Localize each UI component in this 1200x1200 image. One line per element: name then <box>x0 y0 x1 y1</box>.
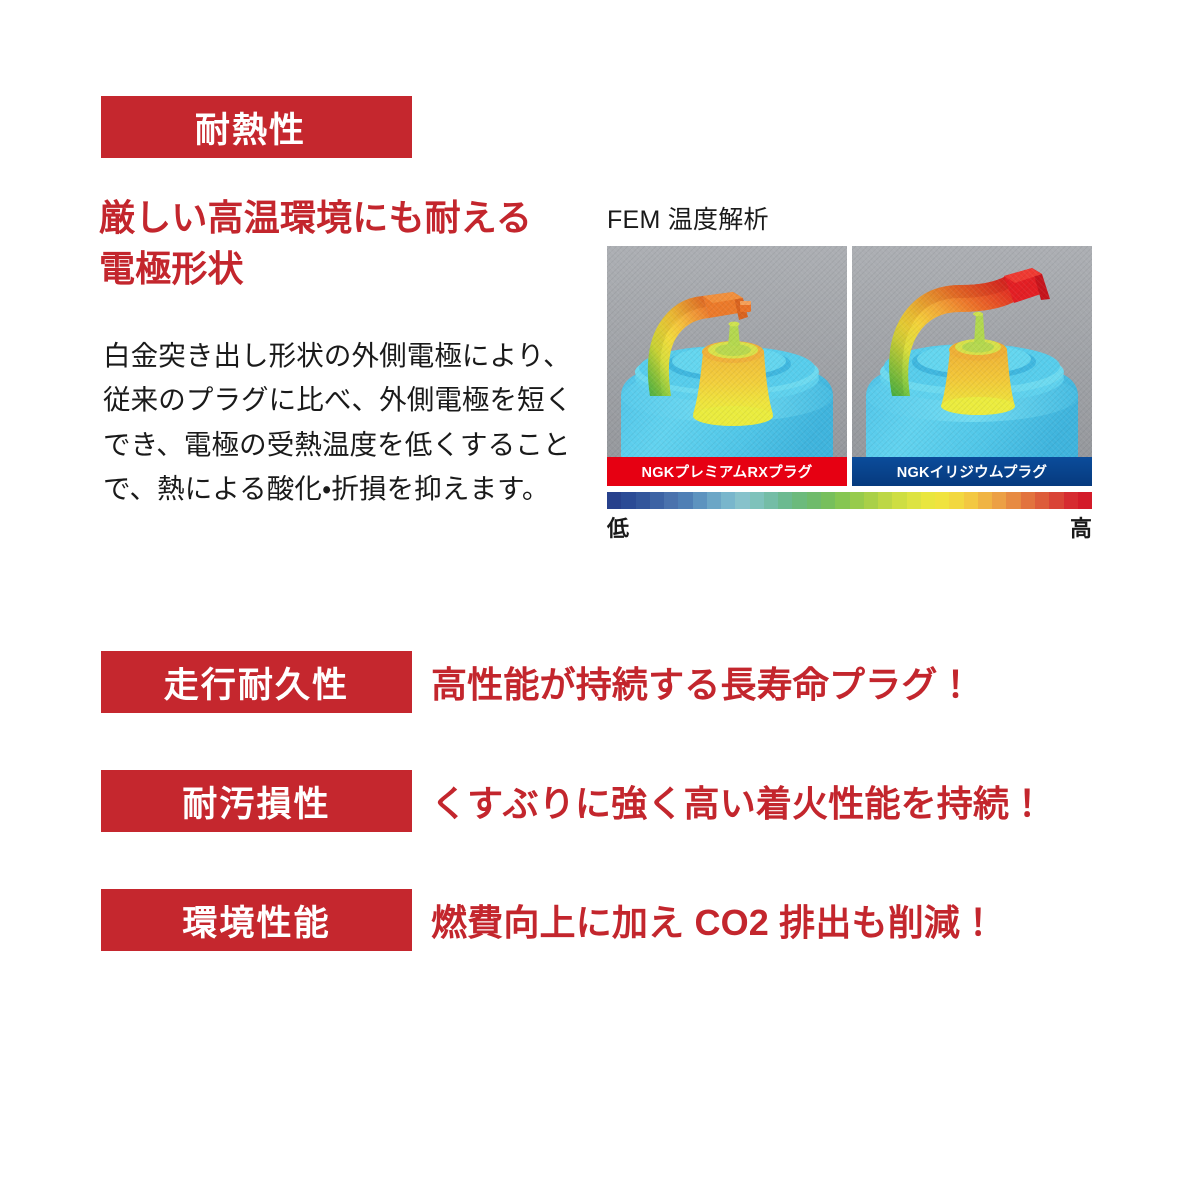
fem-scale-swatch-16 <box>835 492 849 509</box>
fem-scale-high-label: 高 <box>1070 511 1092 543</box>
fem-scale-swatch-9 <box>735 492 749 509</box>
fem-scale-swatch-15 <box>821 492 835 509</box>
feature-text: 燃費向上に加え CO2 排出も削減！ <box>431 894 996 946</box>
fem-scale-swatch-31 <box>1049 492 1063 509</box>
feature-badge-label: 走行耐久性 <box>164 657 350 708</box>
fem-color-scale-labels: 低 高 <box>607 511 1092 543</box>
fem-scale-swatch-6 <box>693 492 707 509</box>
feature-badge-label: 環境性能 <box>182 895 330 946</box>
fem-color-scale: 低 高 <box>607 492 1092 543</box>
fem-panel-tag-premium-rx: NGKプレミアムRXプラグ <box>607 457 847 486</box>
feature-badge-driving-durability: 走行耐久性 <box>101 651 412 713</box>
fem-panel-group: NGKプレミアムRXプラグ <box>607 246 1094 486</box>
heat-resistance-heading: 厳しい高温環境にも耐える 電極形状 <box>99 192 569 294</box>
fem-scale-swatch-11 <box>764 492 778 509</box>
feature-row: 走行耐久性 高性能が持続する長寿命プラグ！ <box>101 651 1101 713</box>
fem-panel-tag-iridium: NGKイリジウムプラグ <box>852 457 1092 486</box>
fem-scale-swatch-10 <box>750 492 764 509</box>
fem-scale-swatch-30 <box>1035 492 1049 509</box>
fem-scale-swatch-5 <box>678 492 692 509</box>
fem-scale-swatch-21 <box>907 492 921 509</box>
fem-scale-swatch-27 <box>992 492 1006 509</box>
fem-scale-swatch-18 <box>864 492 878 509</box>
fem-scale-swatch-26 <box>978 492 992 509</box>
fem-scale-swatch-17 <box>850 492 864 509</box>
fem-thermal-render-iridium <box>852 246 1092 486</box>
feature-row: 環境性能 燃費向上に加え CO2 排出も削減！ <box>101 889 1101 951</box>
feature-badge-environmental-performance: 環境性能 <box>101 889 412 951</box>
feature-badge-label: 耐汚損性 <box>182 776 330 827</box>
fem-scale-swatch-1 <box>621 492 635 509</box>
fem-color-scale-bar <box>607 492 1092 509</box>
fem-scale-swatch-3 <box>650 492 664 509</box>
heat-resistance-badge-label: 耐熱性 <box>195 102 306 153</box>
feature-text: 高性能が持続する長寿命プラグ！ <box>431 656 974 708</box>
fem-scale-swatch-2 <box>636 492 650 509</box>
fem-scale-swatch-4 <box>664 492 678 509</box>
fem-scale-swatch-7 <box>707 492 721 509</box>
fem-scale-swatch-0 <box>607 492 621 509</box>
fem-scale-swatch-14 <box>807 492 821 509</box>
fem-scale-swatch-33 <box>1078 492 1092 509</box>
feature-badge-fouling-resistance: 耐汚損性 <box>101 770 412 832</box>
heat-resistance-section: 耐熱性 厳しい高温環境にも耐える 電極形状 白金突き出し形状の外側電極により、従… <box>0 0 1200 600</box>
fem-panel-premium-rx: NGKプレミアムRXプラグ <box>607 246 847 486</box>
fem-temperature-analysis-figure: FEM 温度解析 <box>607 200 1094 543</box>
fem-scale-swatch-25 <box>964 492 978 509</box>
fem-scale-swatch-28 <box>1006 492 1020 509</box>
fem-scale-swatch-13 <box>792 492 806 509</box>
heat-resistance-badge: 耐熱性 <box>101 96 412 158</box>
fem-scale-low-label: 低 <box>607 511 629 543</box>
fem-scale-swatch-20 <box>892 492 906 509</box>
fem-scale-swatch-23 <box>935 492 949 509</box>
feature-row: 耐汚損性 くすぶりに強く高い着火性能を持続！ <box>101 770 1101 832</box>
fem-figure-caption: FEM 温度解析 <box>607 200 1094 236</box>
fem-thermal-render-premium-rx <box>607 246 847 486</box>
fem-panel-tag-label: NGKイリジウムプラグ <box>897 461 1048 482</box>
fem-scale-swatch-19 <box>878 492 892 509</box>
fem-scale-swatch-22 <box>921 492 935 509</box>
heat-resistance-body-text: 白金突き出し形状の外側電極により、従来のプラグに比べ、外側電極を短くでき、電極の… <box>103 334 583 511</box>
fem-scale-swatch-24 <box>949 492 963 509</box>
feature-text: くすぶりに強く高い着火性能を持続！ <box>431 775 1045 827</box>
fem-panel-tag-label: NGKプレミアムRXプラグ <box>641 461 812 482</box>
fem-scale-swatch-29 <box>1021 492 1035 509</box>
fem-panel-iridium: NGKイリジウムプラグ <box>852 246 1092 486</box>
fem-scale-swatch-12 <box>778 492 792 509</box>
fem-scale-swatch-8 <box>721 492 735 509</box>
fem-scale-swatch-32 <box>1064 492 1078 509</box>
